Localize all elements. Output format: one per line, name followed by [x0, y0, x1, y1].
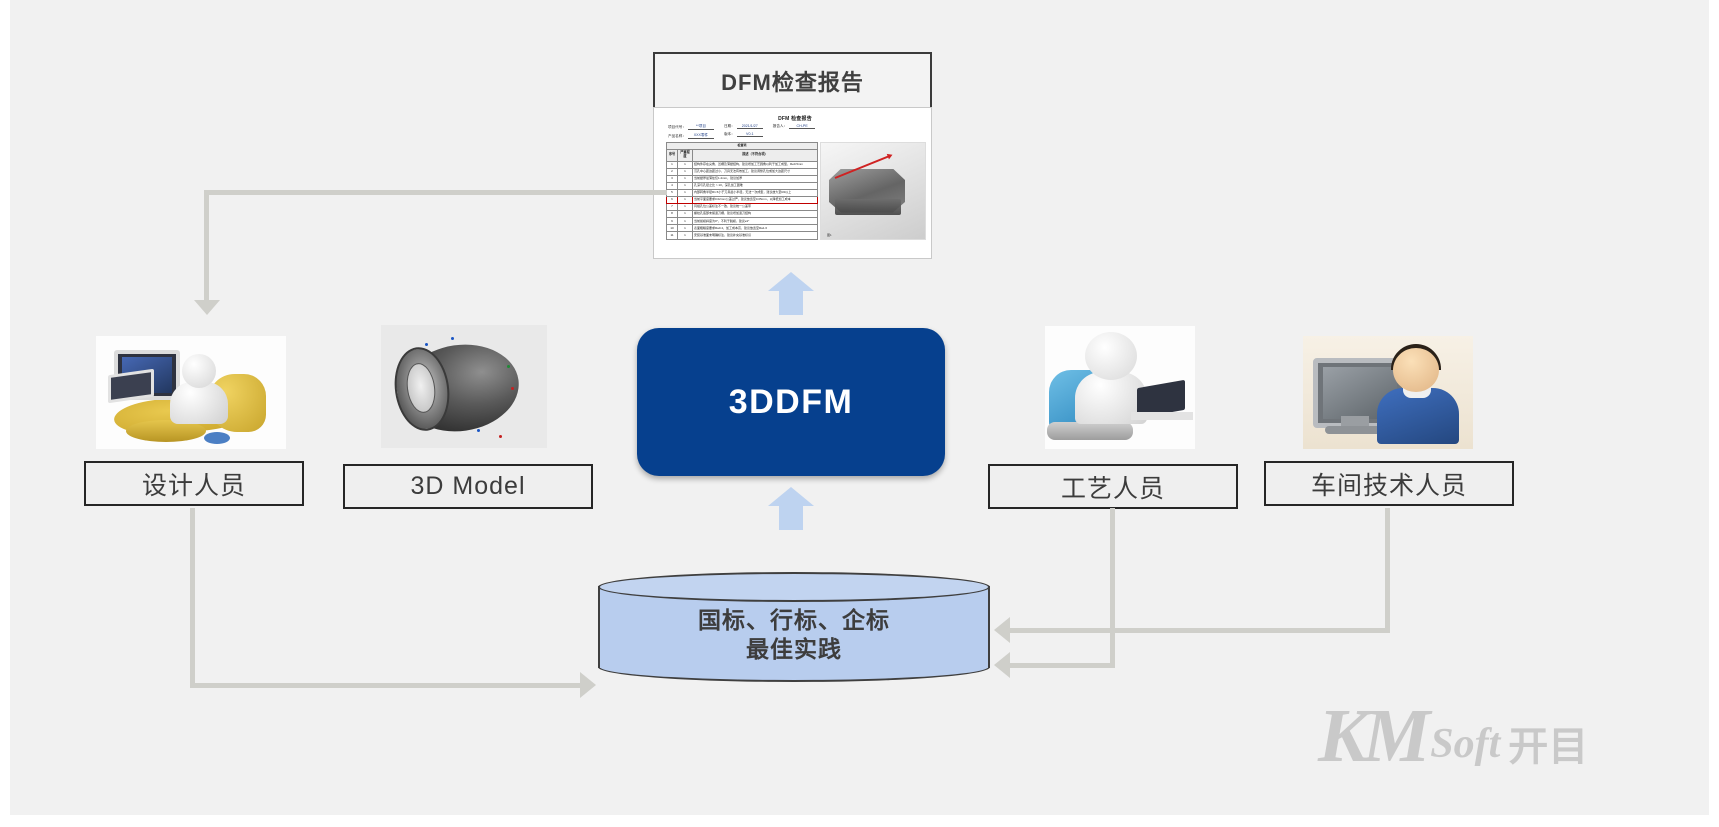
report-table-cell: 表面粗糙度要求Ra0.4，加工成本高，建议放宽至Ra1.6 — [693, 225, 818, 232]
logo-chinese-text: 开目 — [1508, 724, 1588, 770]
report-table-cell: 1 — [678, 211, 693, 218]
report-table-cell: 同组孔位公差标注不一致，建议统一公差带 — [693, 204, 818, 211]
logo-soft-text: Soft — [1430, 718, 1500, 771]
kmsoft-logo: KM Soft 开目 — [1318, 690, 1678, 770]
meta-value-0: **项目 — [688, 124, 714, 130]
meta-value-1: XXX零件 — [688, 133, 714, 139]
report-part-image: 图1 — [820, 142, 926, 240]
label-box-designer[interactable]: 设计人员 — [84, 461, 304, 506]
report-table-cell: 11 — [667, 232, 678, 239]
report-table-cell: 9 — [667, 218, 678, 225]
meta-value-3: V0.1 — [737, 132, 763, 137]
report-table-cell: 1 — [678, 232, 693, 239]
report-doc-meta: 项目代号：**项目 产品名称：XXX零件 日期：2021/1/27 版本：V0.… — [662, 124, 928, 139]
report-table-cell: 1 — [678, 225, 693, 232]
part-base-shape — [835, 199, 901, 215]
process-engineer-photo — [1045, 326, 1195, 449]
label-process-engineer: 工艺人员 — [1061, 469, 1165, 505]
report-table-cell: 1 — [678, 189, 693, 196]
report-column-header: 序号 — [667, 149, 678, 161]
meta-label-2: 日期： — [724, 124, 735, 129]
designer-photo — [96, 336, 286, 449]
report-table-cell: 7 — [667, 204, 678, 211]
standards-database-cylinder[interactable]: 国标、行标、企标 最佳实践 — [598, 572, 990, 682]
report-table-row: 91当前拔模斜度为0°，不利于脱模，建议≥1° — [667, 218, 818, 225]
shop-technician-photo — [1303, 336, 1473, 449]
meta-label-3: 版本： — [724, 132, 735, 137]
report-table-cell: 1 — [678, 161, 693, 168]
report-table-cell: 1 — [667, 161, 678, 168]
label-box-process-engineer[interactable]: 工艺人员 — [988, 464, 1238, 509]
cylinder-label: 国标、行标、企标 最佳实践 — [598, 606, 990, 664]
report-doc-title: DFM 检查报告 — [662, 115, 928, 122]
connector-process-to-database-horizontal — [1010, 663, 1115, 668]
up-arrow-database-to-core-icon — [768, 487, 814, 533]
report-table-cell: 当前平面度要求0.02mm公差过严，建议放宽至0.05mm，以降低加工成本 — [693, 197, 818, 204]
report-table-cell: 孔深与孔径之比 > 10，深孔加工困难 — [693, 182, 818, 189]
connector-shop-to-database-horizontal — [1010, 628, 1390, 633]
report-table-cell: 10 — [667, 225, 678, 232]
report-table-cell: 沉孔中心距边距过小，刀具无法有效加工，建议调整孔位或加大边距尺寸 — [693, 168, 818, 175]
report-table-cell: 1 — [678, 168, 693, 175]
report-table-row: 81螺纹孔底部未留退刀槽，建议增加退刀结构 — [667, 211, 818, 218]
report-table-row: 31当前壁厚最薄处仅1.2mm，建议加厚 — [667, 175, 818, 182]
label-shop-technician: 车间技术人员 — [1311, 466, 1467, 502]
cad-model-photo — [381, 325, 547, 448]
meta-value-2: 2021/1/27 — [737, 124, 763, 129]
cylinder-top-ellipse — [598, 572, 990, 602]
cylinder-label-line2: 最佳实践 — [598, 635, 990, 664]
report-document-thumbnail: DFM 检查报告 项目代号：**项目 产品名称：XXX零件 日期：2021/1/… — [653, 107, 932, 259]
bottom-margin — [0, 815, 1719, 827]
report-table-cell: 安装基准面未明确标注，建议补充基准标识 — [693, 232, 818, 239]
report-table-cell: 1 — [678, 204, 693, 211]
report-title-text: DFM检查报告 — [721, 65, 864, 97]
report-table-cell: 螺纹孔底部未留退刀槽，建议增加退刀结构 — [693, 211, 818, 218]
report-table-row: 51内部转角半径R1.5小于刀具最小半径，无法一次成型，建议放大至R2以上 — [667, 189, 818, 196]
arrowhead-shop-to-database — [994, 617, 1010, 643]
arrowhead-designer-to-database — [580, 672, 596, 698]
report-table-row: 41孔深与孔径之比 > 10，深孔加工困难 — [667, 182, 818, 189]
report-findings-table: 检查项序号严重程度描述（不符合项）11结构件存在尖角、凹槽及薄壁结构，建议增加工… — [666, 142, 818, 240]
report-column-header: 严重程度 — [678, 149, 693, 161]
report-table-row: 111安装基准面未明确标注，建议补充基准标识 — [667, 232, 818, 239]
meta-label-4: 报告人： — [773, 124, 787, 129]
report-table-cell: 5 — [667, 189, 678, 196]
cylinder-label-line1: 国标、行标、企标 — [598, 606, 990, 635]
core-module-label: 3DDFM — [729, 383, 854, 422]
connector-process-to-database-vertical — [1110, 508, 1115, 665]
left-margin — [0, 0, 10, 827]
report-table-row: 61当前平面度要求0.02mm公差过严，建议放宽至0.05mm，以降低加工成本 — [667, 197, 818, 204]
report-table-cell: 4 — [667, 182, 678, 189]
report-table-cell: 6 — [667, 197, 678, 204]
report-table-cell: 结构件存在尖角、凹槽及薄壁结构，建议增加工艺圆角以利于加工成型，R≥0.5mm — [693, 161, 818, 168]
report-table-cell: 1 — [678, 197, 693, 204]
report-table-cell: 1 — [678, 175, 693, 182]
report-table-cell: 当前壁厚最薄处仅1.2mm，建议加厚 — [693, 175, 818, 182]
connector-report-to-designer-horizontal — [207, 190, 667, 195]
report-section-title: 检查项 — [667, 142, 818, 149]
arrowhead-report-to-designer — [194, 300, 220, 315]
report-table-cell: 内部转角半径R1.5小于刀具最小半径，无法一次成型，建议放大至R2以上 — [693, 189, 818, 196]
report-table-cell: 2 — [667, 168, 678, 175]
logo-km-mark: KM — [1318, 702, 1424, 770]
report-table-row: 101表面粗糙度要求Ra0.4，加工成本高，建议放宽至Ra1.6 — [667, 225, 818, 232]
meta-value-4: CH-PE — [789, 124, 815, 129]
report-table-cell: 3 — [667, 175, 678, 182]
label-box-3d-model[interactable]: 3D Model — [343, 464, 593, 509]
report-table-cell: 1 — [678, 182, 693, 189]
meta-label-0: 项目代号： — [668, 125, 686, 130]
connector-shop-to-database-vertical — [1385, 508, 1390, 630]
report-table-row: 71同组孔位公差标注不一致，建议统一公差带 — [667, 204, 818, 211]
report-title-box: DFM检查报告 — [653, 52, 932, 109]
core-module-3ddfm[interactable]: 3DDFM — [637, 328, 945, 476]
report-image-caption: 图1 — [827, 233, 832, 237]
arrowhead-process-to-database — [994, 652, 1010, 678]
report-table-cell: 1 — [678, 218, 693, 225]
report-table-cell: 8 — [667, 211, 678, 218]
up-arrow-core-to-report-icon — [768, 272, 814, 318]
report-table-cell: 当前拔模斜度为0°，不利于脱模，建议≥1° — [693, 218, 818, 225]
right-margin — [1709, 0, 1719, 827]
meta-label-1: 产品名称： — [668, 134, 686, 139]
connector-designer-to-database-horizontal — [190, 683, 584, 688]
report-table-row: 21沉孔中心距边距过小，刀具无法有效加工，建议调整孔位或加大边距尺寸 — [667, 168, 818, 175]
report-table-row: 11结构件存在尖角、凹槽及薄壁结构，建议增加工艺圆角以利于加工成型，R≥0.5m… — [667, 161, 818, 168]
label-box-shop-technician[interactable]: 车间技术人员 — [1264, 461, 1514, 506]
connector-designer-to-database-vertical — [190, 508, 195, 685]
slide-canvas: DFM检查报告 DFM 检查报告 项目代号：**项目 产品名称：XXX零件 日期… — [0, 0, 1719, 827]
label-3d-model: 3D Model — [411, 472, 526, 501]
report-column-header: 描述（不符合项） — [693, 149, 818, 161]
label-designer: 设计人员 — [142, 466, 246, 502]
connector-report-to-designer-vertical — [204, 190, 209, 302]
